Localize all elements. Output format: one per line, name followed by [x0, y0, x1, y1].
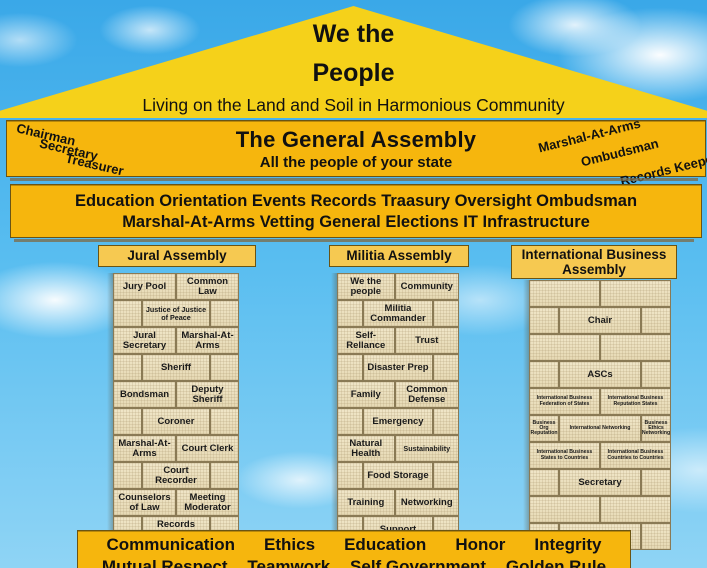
brick-court-clerk[interactable]: Court Clerk [176, 435, 239, 462]
column-militia-assembly: We the peopleCommunityMilitia CommanderS… [337, 273, 459, 543]
brick-course: Court Recorder [113, 462, 239, 489]
base-value-self-government: Self Government [350, 557, 486, 568]
brick-jural-secretary[interactable]: Jural Secretary [113, 327, 176, 354]
band-shadow-lower [14, 239, 694, 242]
brick-court-recorder[interactable]: Court Recorder [142, 462, 210, 489]
brick-blank [433, 300, 459, 327]
brick-deputy-sheriff[interactable]: Deputy Sheriff [176, 381, 239, 408]
general-assembly-band: The General Assembly All the people of y… [6, 120, 706, 177]
brick-course: Secretary [529, 469, 671, 496]
brick-blank [113, 408, 142, 435]
brick-course: International Business States to Countri… [529, 442, 671, 469]
brick-course [529, 496, 671, 523]
diagram-canvas: We the People Living on the Land and Soi… [0, 0, 707, 568]
brick-networking[interactable]: Networking [395, 489, 459, 516]
brick-blank [433, 354, 459, 381]
general-assembly-inner: The General Assembly All the people of y… [7, 121, 705, 176]
brick-course: Disaster Prep [337, 354, 459, 381]
roof-text-group: We the People Living on the Land and Soi… [0, 0, 707, 118]
base-value-teamwork: Teamwork [247, 557, 330, 568]
brick-we-the-people[interactable]: We the people [337, 273, 395, 300]
brick-course: Chair [529, 307, 671, 334]
brick-course: Natural HealthSustainability [337, 435, 459, 462]
brick-blank [529, 469, 559, 496]
brick-blank [641, 523, 671, 550]
brick-coroner[interactable]: Coroner [142, 408, 210, 435]
brick-chair[interactable]: Chair [559, 307, 641, 334]
band-shadow-upper [10, 178, 698, 181]
brick-blank [641, 361, 671, 388]
brick-natural-health[interactable]: Natural Health [337, 435, 395, 462]
brick-blank [113, 462, 142, 489]
column-header-international-business-assembly[interactable]: International Business Assembly [511, 245, 677, 279]
roof-line-3: Living on the Land and Soil in Harmoniou… [142, 97, 564, 115]
brick-course: We the peopleCommunity [337, 273, 459, 300]
brick-course: Justice of Justice of Peace [113, 300, 239, 327]
roof-line-2: People [313, 61, 395, 86]
brick-justice-of-justice-of-peace[interactable]: Justice of Justice of Peace [142, 300, 210, 327]
committees-line-2: Marshal-At-Arms Vetting General Election… [11, 213, 701, 232]
brick-disaster-prep[interactable]: Disaster Prep [363, 354, 433, 381]
base-band: CommunicationEthicsEducationHonorIntegri… [77, 530, 631, 568]
brick-blank [529, 496, 600, 523]
brick-common-defense[interactable]: Common Defense [395, 381, 459, 408]
brick-course: BondsmanDeputy Sheriff [113, 381, 239, 408]
brick-blank [529, 280, 600, 307]
brick-course: TrainingNetworking [337, 489, 459, 516]
brick-blank [337, 300, 363, 327]
brick-blank [113, 300, 142, 327]
brick-international-business-reputation-states[interactable]: International Business Reputation States [600, 388, 671, 415]
brick-blank [529, 361, 559, 388]
brick-blank [641, 469, 671, 496]
brick-course: FamilyCommon Defense [337, 381, 459, 408]
brick-course: Counselors of LawMeeting Moderator [113, 489, 239, 516]
base-value-golden-rule: Golden Rule [506, 557, 606, 568]
column-header-militia-assembly[interactable]: Militia Assembly [329, 245, 469, 267]
brick-international-business-states-to-countries[interactable]: International Business States to Countri… [529, 442, 600, 469]
brick-course: Business Org ReputationInternational Net… [529, 415, 671, 442]
brick-course: International Business Federation of Sta… [529, 388, 671, 415]
brick-international-business-federation-of-states[interactable]: International Business Federation of Sta… [529, 388, 600, 415]
brick-blank [337, 462, 363, 489]
brick-emergency[interactable]: Emergency [363, 408, 433, 435]
base-value-ethics: Ethics [264, 535, 315, 555]
brick-international-business-countries-to-countries[interactable]: International Business Countries to Coun… [600, 442, 671, 469]
base-row-values: CommunicationEthicsEducationHonorIntegri… [78, 535, 630, 555]
brick-course: Food Storage [337, 462, 459, 489]
brick-course: Marshal-At-ArmsCourt Clerk [113, 435, 239, 462]
brick-food-storage[interactable]: Food Storage [363, 462, 433, 489]
committees-line-1: Education Orientation Events Records Tra… [11, 192, 701, 211]
brick-course [529, 334, 671, 361]
brick-secretary[interactable]: Secretary [559, 469, 641, 496]
brick-blank [529, 334, 600, 361]
base-row-principles: Mutual RespectTeamworkSelf GovernmentGol… [78, 557, 630, 568]
brick-community[interactable]: Community [395, 273, 459, 300]
column-jural-assembly: Jury PoolCommon LawJustice of Justice of… [113, 273, 239, 543]
brick-course: Jural SecretaryMarshal-At-Arms [113, 327, 239, 354]
brick-course: Sheriff [113, 354, 239, 381]
base-value-honor: Honor [455, 535, 505, 555]
brick-course: Coroner [113, 408, 239, 435]
brick-international-networking[interactable]: International Networking [559, 415, 641, 442]
brick-common-law[interactable]: Common Law [176, 273, 239, 300]
brick-blank [337, 408, 363, 435]
brick-business-ethics-networking[interactable]: Business Ethics Networking [641, 415, 671, 442]
brick-blank [600, 496, 671, 523]
brick-marshal-at-arms[interactable]: Marshal-At-Arms [113, 435, 176, 462]
base-grid: CommunicationEthicsEducationHonorIntegri… [78, 535, 630, 568]
base-value-education: Education [344, 535, 426, 555]
brick-course [529, 280, 671, 307]
brick-blank [210, 354, 239, 381]
brick-sheriff[interactable]: Sheriff [142, 354, 210, 381]
brick-counselors-of-law[interactable]: Counselors of Law [113, 489, 176, 516]
brick-meeting-moderator[interactable]: Meeting Moderator [176, 489, 239, 516]
brick-course: Self-RellanceTrust [337, 327, 459, 354]
base-value-mutual-respect: Mutual Respect [102, 557, 228, 568]
brick-blank [600, 334, 671, 361]
brick-training[interactable]: Training [337, 489, 395, 516]
brick-course: Militia Commander [337, 300, 459, 327]
brick-course: ASCs [529, 361, 671, 388]
brick-bondsman[interactable]: Bondsman [113, 381, 176, 408]
brick-sustainability[interactable]: Sustainability [395, 435, 459, 462]
brick-jury-pool[interactable]: Jury Pool [113, 273, 176, 300]
brick-course: Emergency [337, 408, 459, 435]
brick-blank [600, 280, 671, 307]
brick-self-rellance[interactable]: Self-Rellance [337, 327, 395, 354]
roof-line-1: We the [313, 22, 395, 47]
brick-blank [641, 307, 671, 334]
brick-trust[interactable]: Trust [395, 327, 459, 354]
column-header-label: International Business Assembly [512, 247, 676, 277]
brick-militia-commander[interactable]: Militia Commander [363, 300, 433, 327]
brick-business-org-reputation[interactable]: Business Org Reputation [529, 415, 559, 442]
base-value-communication: Communication [107, 535, 235, 555]
brick-blank [433, 408, 459, 435]
brick-blank [113, 354, 142, 381]
column-header-jural-assembly[interactable]: Jural Assembly [98, 245, 256, 267]
brick-blank [529, 307, 559, 334]
brick-blank [210, 300, 239, 327]
brick-blank [210, 462, 239, 489]
column-international-business-assembly: ChairASCsInternational Business Federati… [529, 280, 671, 550]
column-header-label: Militia Assembly [346, 248, 451, 263]
column-header-label: Jural Assembly [127, 248, 226, 263]
committees-band: Education Orientation Events Records Tra… [10, 184, 702, 238]
brick-blank [210, 408, 239, 435]
brick-marshal-at-arms[interactable]: Marshal-At-Arms [176, 327, 239, 354]
base-value-integrity: Integrity [534, 535, 601, 555]
brick-course: Jury PoolCommon Law [113, 273, 239, 300]
brick-ascs[interactable]: ASCs [559, 361, 641, 388]
brick-blank [433, 462, 459, 489]
brick-blank [337, 354, 363, 381]
brick-family[interactable]: Family [337, 381, 395, 408]
